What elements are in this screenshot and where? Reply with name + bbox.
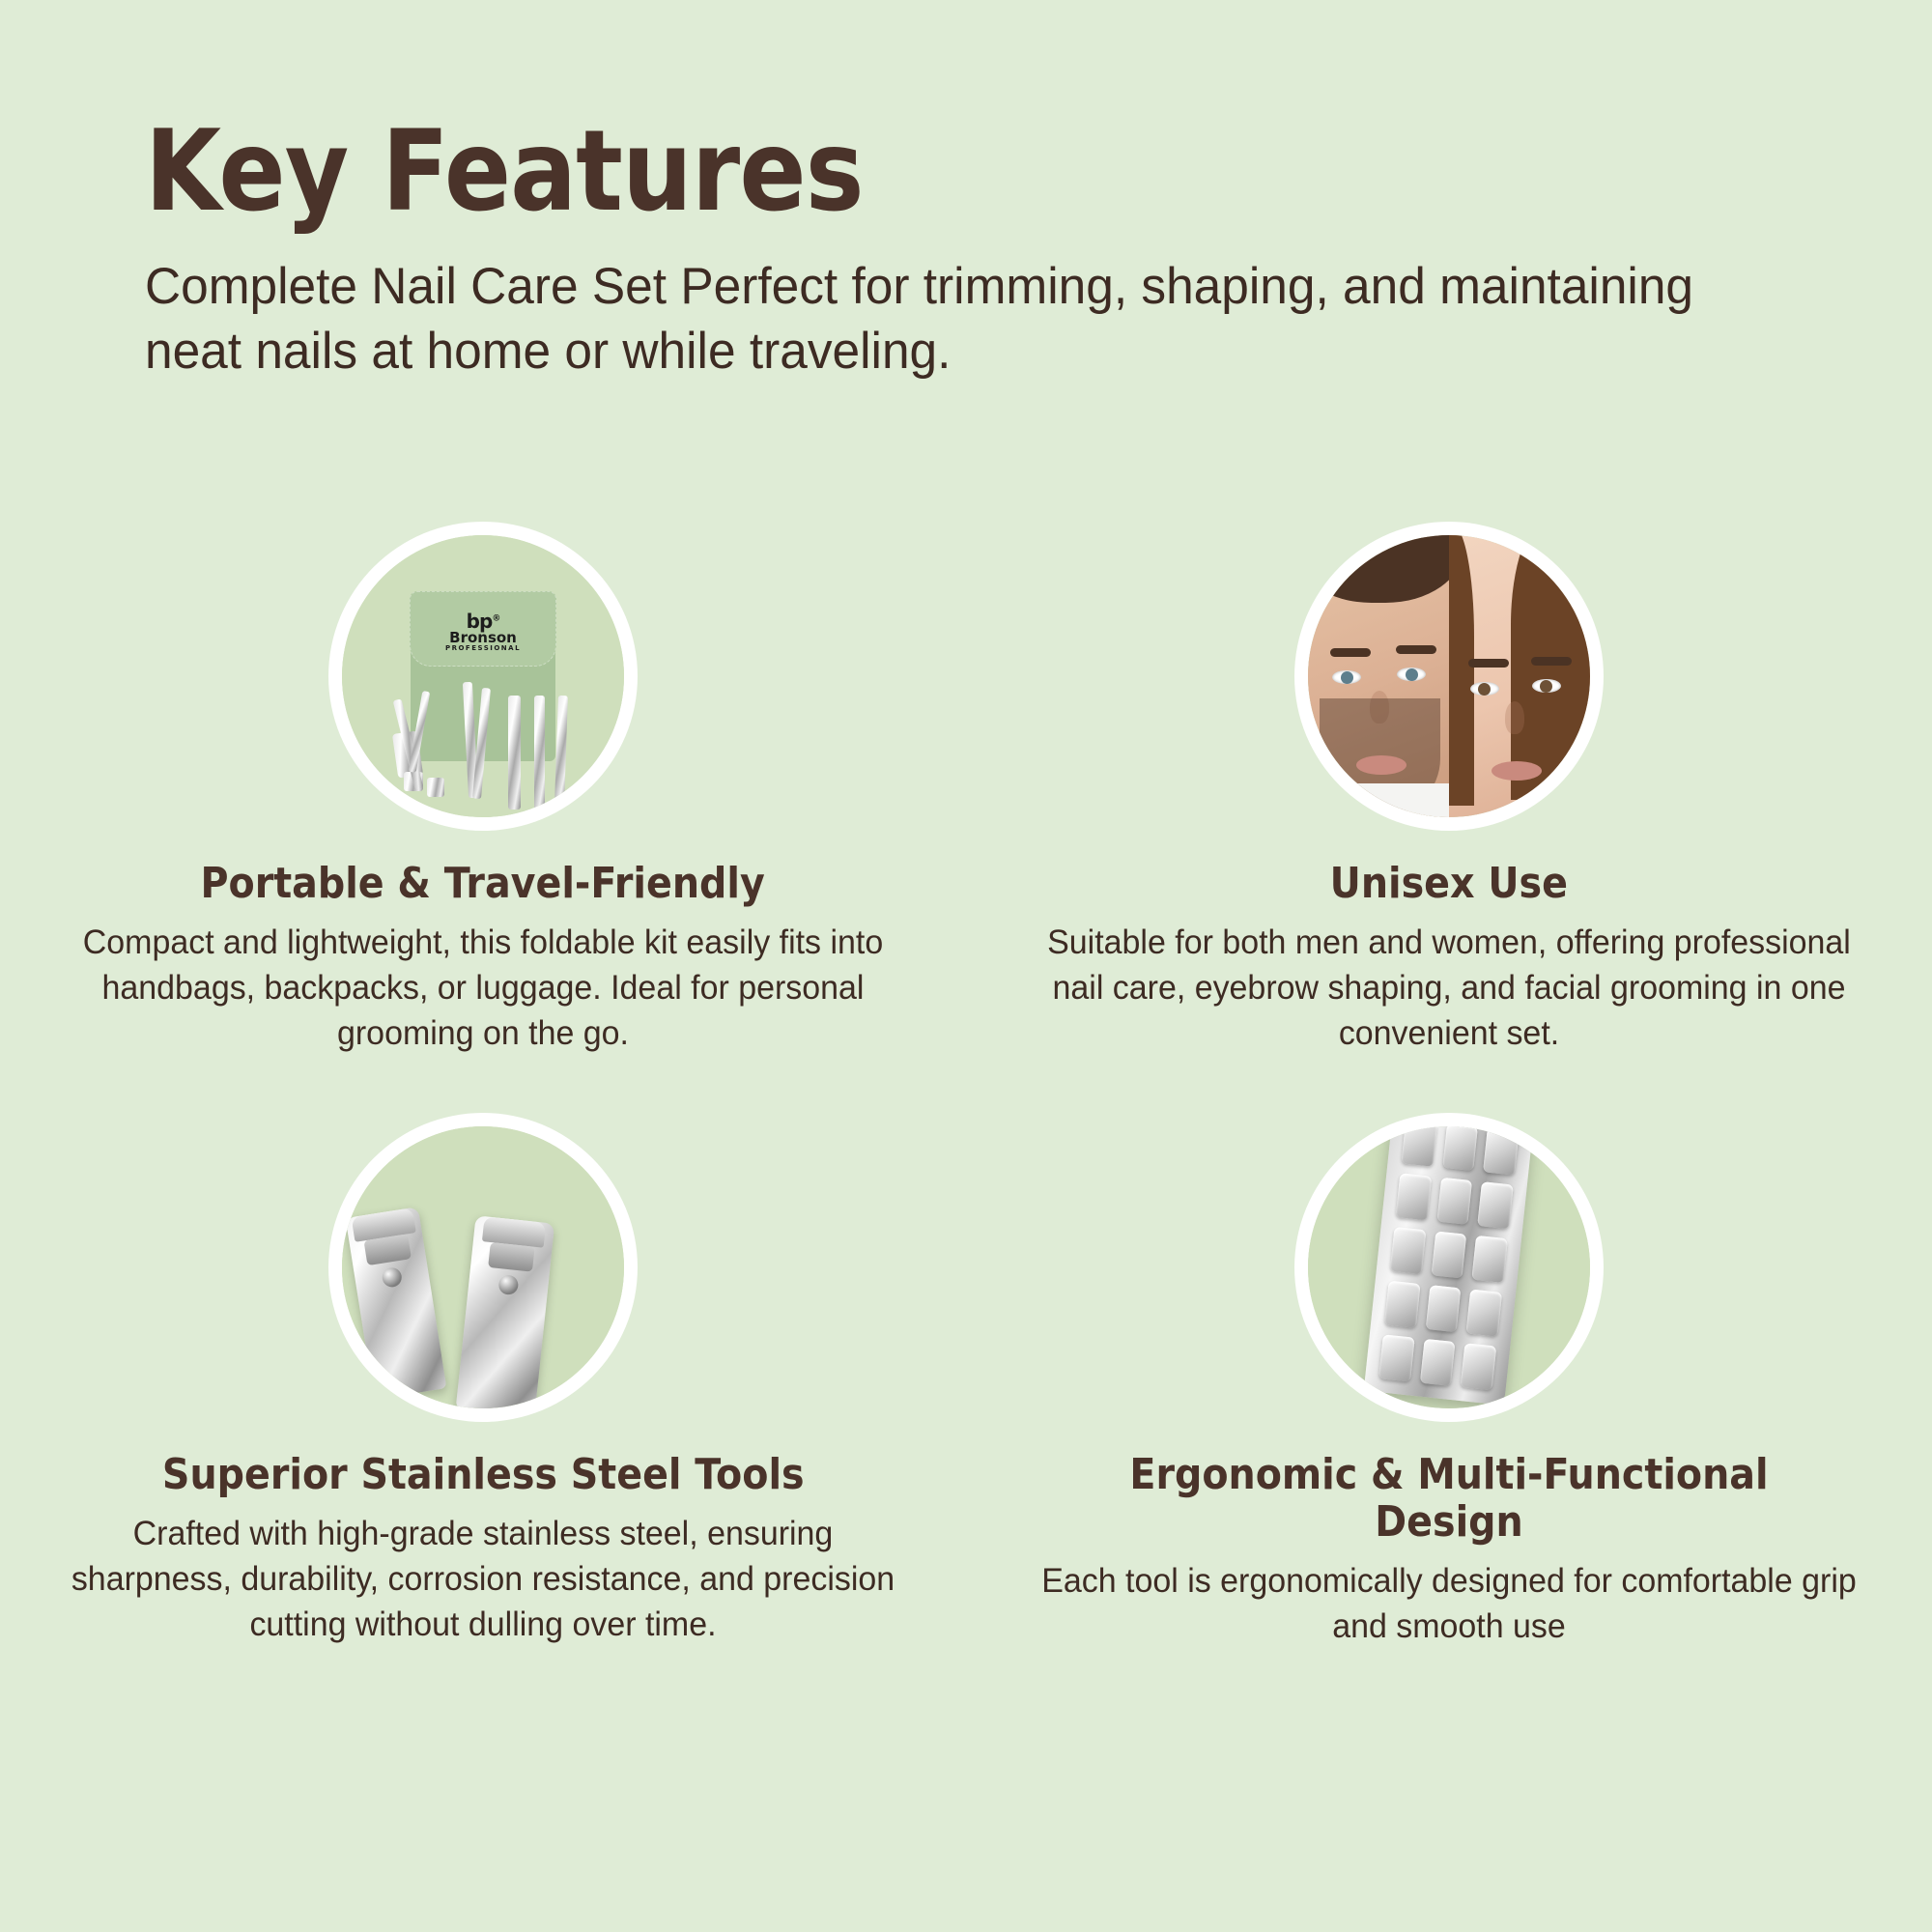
feature-card-stainless-steel: Superior Stainless Steel Tools Crafted w… xyxy=(0,1113,966,1650)
registered-icon: ® xyxy=(492,613,499,623)
infographic-page: Key Features Complete Nail Care Set Perf… xyxy=(0,0,1932,1932)
feature-card-ergonomic: Ergonomic & Multi-Functional Design Each… xyxy=(966,1113,1932,1650)
feature-image-ring: bp® Bronson PROFESSIONAL xyxy=(328,522,638,831)
feature-image-ring xyxy=(1294,1113,1604,1422)
header: Key Features Complete Nail Care Set Perf… xyxy=(0,0,1932,384)
feature-grid: bp® Bronson PROFESSIONAL xyxy=(0,522,1932,1650)
feature-image-ring xyxy=(328,1113,638,1422)
brand-tagline-text: PROFESSIONAL xyxy=(445,645,521,652)
man-face xyxy=(1308,535,1449,817)
man-and-woman-faces-photo xyxy=(1308,535,1590,817)
feature-description: Suitable for both men and women, offerin… xyxy=(1037,921,1861,1057)
page-subtitle: Complete Nail Care Set Perfect for trimm… xyxy=(145,255,1738,384)
stainless-steel-nail-clippers-photo xyxy=(342,1126,624,1408)
nail-care-kit-pouch-photo: bp® Bronson PROFESSIONAL xyxy=(342,535,624,817)
ergonomic-textured-grip-nail-file-photo xyxy=(1308,1126,1590,1408)
feature-title: Superior Stainless Steel Tools xyxy=(162,1451,805,1498)
feature-description: Each tool is ergonomically designed for … xyxy=(1037,1559,1861,1650)
feature-title: Ergonomic & Multi-Functional Design xyxy=(1066,1451,1832,1547)
feature-card-portable: bp® Bronson PROFESSIONAL xyxy=(0,522,966,1057)
feature-title: Unisex Use xyxy=(1330,860,1568,907)
feature-description: Crafted with high-grade stainless steel,… xyxy=(71,1512,895,1648)
feature-image-ring xyxy=(1294,522,1604,831)
feature-card-unisex: Unisex Use Suitable for both men and wom… xyxy=(966,522,1932,1057)
woman-face xyxy=(1449,535,1590,817)
feature-description: Compact and lightweight, this foldable k… xyxy=(71,921,895,1057)
page-title: Key Features xyxy=(145,116,1590,228)
brand-name-text: Bronson xyxy=(445,631,521,645)
bronson-brand-logo: bp® Bronson PROFESSIONAL xyxy=(445,611,521,652)
feature-title: Portable & Travel-Friendly xyxy=(201,860,765,907)
